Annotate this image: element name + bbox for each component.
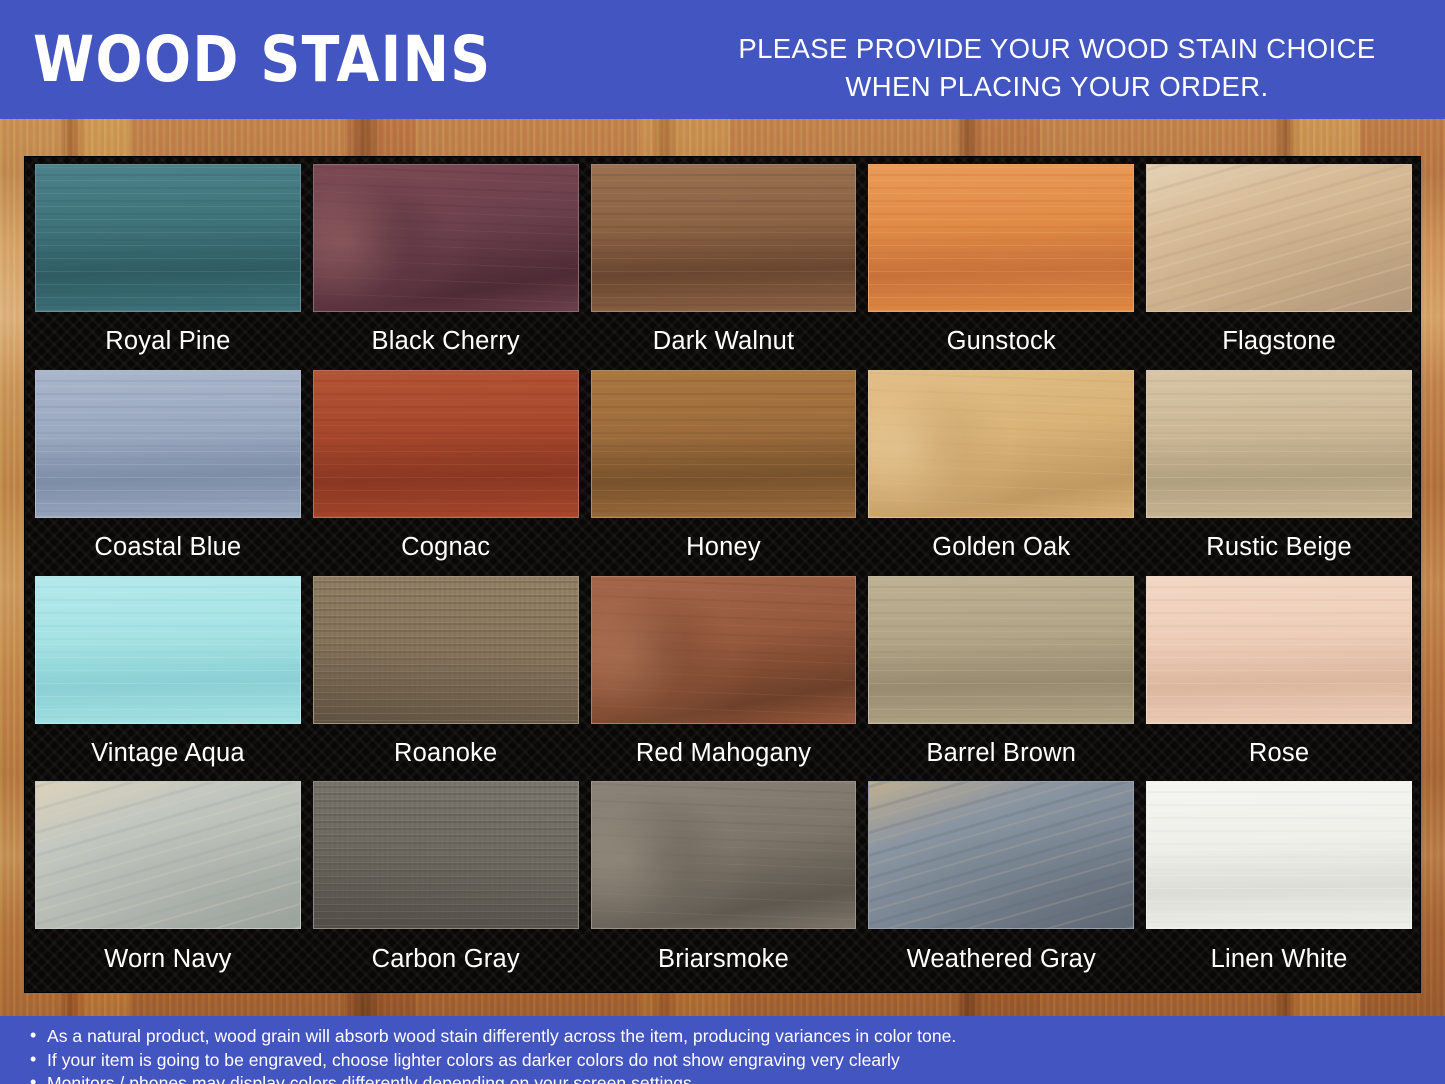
stain-name-label: Rustic Beige bbox=[1144, 518, 1414, 576]
stain-name-label: Roanoke bbox=[311, 724, 581, 782]
wood-grain-texture bbox=[869, 371, 1133, 517]
stain-name-label: Vintage Aqua bbox=[33, 724, 303, 782]
wood-grain-texture bbox=[592, 371, 856, 517]
stain-color-swatch[interactable] bbox=[1146, 164, 1412, 312]
swatch-cell[interactable]: Cognac bbox=[311, 370, 581, 576]
stain-color-swatch[interactable] bbox=[868, 781, 1134, 929]
swatch-cell[interactable]: Black Cherry bbox=[311, 164, 581, 370]
stain-name-label: Red Mahogany bbox=[589, 724, 859, 782]
header-instruction: PLEASE PROVIDE YOUR WOOD STAIN CHOICE WH… bbox=[707, 30, 1407, 106]
swatch-cell[interactable]: Honey bbox=[589, 370, 859, 576]
stain-color-swatch[interactable] bbox=[35, 164, 301, 312]
wood-grain-texture bbox=[1147, 782, 1411, 928]
stain-color-swatch[interactable] bbox=[591, 781, 857, 929]
swatch-cell[interactable]: Roanoke bbox=[311, 576, 581, 782]
swatch-panel: Royal PineBlack CherryDark WalnutGunstoc… bbox=[24, 156, 1421, 993]
stain-name-label: Rose bbox=[1144, 724, 1414, 782]
wood-grain-texture bbox=[36, 371, 300, 517]
footer-note-item: Monitors / phones may display colors dif… bbox=[26, 1072, 1445, 1084]
swatch-cell[interactable]: Worn Navy bbox=[33, 781, 303, 987]
page-title: WOOD STAINS bbox=[33, 26, 492, 94]
swatch-cell[interactable]: Barrel Brown bbox=[866, 576, 1136, 782]
wood-grain-texture bbox=[592, 165, 856, 311]
wood-grain-texture bbox=[314, 165, 578, 311]
stain-color-swatch[interactable] bbox=[313, 781, 579, 929]
stain-name-label: Gunstock bbox=[866, 312, 1136, 370]
wood-grain-texture bbox=[592, 577, 856, 723]
stain-name-label: Coastal Blue bbox=[33, 518, 303, 576]
wood-grain-texture bbox=[36, 782, 300, 928]
stain-color-swatch[interactable] bbox=[868, 576, 1134, 724]
footer-note-list: As a natural product, wood grain will ab… bbox=[26, 1025, 1445, 1084]
stain-color-swatch[interactable] bbox=[1146, 370, 1412, 518]
wood-grain-texture bbox=[314, 371, 578, 517]
header-banner: WOOD STAINS PLEASE PROVIDE YOUR WOOD STA… bbox=[0, 0, 1445, 119]
footer-note-item: If your item is going to be engraved, ch… bbox=[26, 1049, 1445, 1073]
wood-grain-texture bbox=[314, 782, 578, 928]
wood-grain-texture bbox=[1147, 371, 1411, 517]
stain-color-swatch[interactable] bbox=[313, 576, 579, 724]
stain-name-label: Linen White bbox=[1144, 929, 1414, 987]
stain-color-swatch[interactable] bbox=[591, 164, 857, 312]
stain-color-swatch[interactable] bbox=[868, 370, 1134, 518]
swatch-grid: Royal PineBlack CherryDark WalnutGunstoc… bbox=[33, 164, 1414, 987]
stain-color-swatch[interactable] bbox=[313, 164, 579, 312]
swatch-cell[interactable]: Vintage Aqua bbox=[33, 576, 303, 782]
stain-color-swatch[interactable] bbox=[35, 781, 301, 929]
swatch-cell[interactable]: Briarsmoke bbox=[589, 781, 859, 987]
footer-note-item: As a natural product, wood grain will ab… bbox=[26, 1025, 1445, 1049]
wood-grain-texture bbox=[592, 782, 856, 928]
stain-name-label: Briarsmoke bbox=[589, 929, 859, 987]
stain-name-label: Worn Navy bbox=[33, 929, 303, 987]
stain-name-label: Barrel Brown bbox=[866, 724, 1136, 782]
wood-grain-texture bbox=[869, 782, 1133, 928]
stain-color-swatch[interactable] bbox=[591, 370, 857, 518]
header-instruction-line-2: WHEN PLACING YOUR ORDER. bbox=[707, 68, 1407, 106]
wood-grain-texture bbox=[869, 577, 1133, 723]
stain-color-swatch[interactable] bbox=[591, 576, 857, 724]
swatch-cell[interactable]: Weathered Gray bbox=[866, 781, 1136, 987]
wood-grain-texture bbox=[1147, 165, 1411, 311]
wood-grain-texture bbox=[869, 165, 1133, 311]
wood-grain-texture bbox=[36, 165, 300, 311]
stain-color-swatch[interactable] bbox=[1146, 781, 1412, 929]
stain-color-swatch[interactable] bbox=[313, 370, 579, 518]
stain-color-swatch[interactable] bbox=[35, 576, 301, 724]
wood-grain-texture bbox=[1147, 577, 1411, 723]
swatch-cell[interactable]: Golden Oak bbox=[866, 370, 1136, 576]
wood-grain-texture bbox=[36, 577, 300, 723]
stain-color-swatch[interactable] bbox=[35, 370, 301, 518]
swatch-cell[interactable]: Rustic Beige bbox=[1144, 370, 1414, 576]
stain-name-label: Dark Walnut bbox=[589, 312, 859, 370]
wood-stain-chart: WOOD STAINS PLEASE PROVIDE YOUR WOOD STA… bbox=[0, 0, 1445, 1084]
stain-name-label: Cognac bbox=[311, 518, 581, 576]
stain-name-label: Royal Pine bbox=[33, 312, 303, 370]
swatch-cell[interactable]: Carbon Gray bbox=[311, 781, 581, 987]
swatch-cell[interactable]: Red Mahogany bbox=[589, 576, 859, 782]
stain-color-swatch[interactable] bbox=[868, 164, 1134, 312]
stain-name-label: Black Cherry bbox=[311, 312, 581, 370]
stain-name-label: Flagstone bbox=[1144, 312, 1414, 370]
stain-name-label: Honey bbox=[589, 518, 859, 576]
swatch-cell[interactable]: Gunstock bbox=[866, 164, 1136, 370]
swatch-cell[interactable]: Linen White bbox=[1144, 781, 1414, 987]
header-instruction-line-1: PLEASE PROVIDE YOUR WOOD STAIN CHOICE bbox=[738, 33, 1375, 64]
swatch-cell[interactable]: Royal Pine bbox=[33, 164, 303, 370]
stain-name-label: Carbon Gray bbox=[311, 929, 581, 987]
wood-grain-texture bbox=[314, 577, 578, 723]
swatch-cell[interactable]: Dark Walnut bbox=[589, 164, 859, 370]
swatch-cell[interactable]: Rose bbox=[1144, 576, 1414, 782]
swatch-cell[interactable]: Coastal Blue bbox=[33, 370, 303, 576]
stain-name-label: Golden Oak bbox=[866, 518, 1136, 576]
swatch-cell[interactable]: Flagstone bbox=[1144, 164, 1414, 370]
stain-color-swatch[interactable] bbox=[1146, 576, 1412, 724]
stain-name-label: Weathered Gray bbox=[866, 929, 1136, 987]
footer-notes: As a natural product, wood grain will ab… bbox=[0, 1016, 1445, 1084]
